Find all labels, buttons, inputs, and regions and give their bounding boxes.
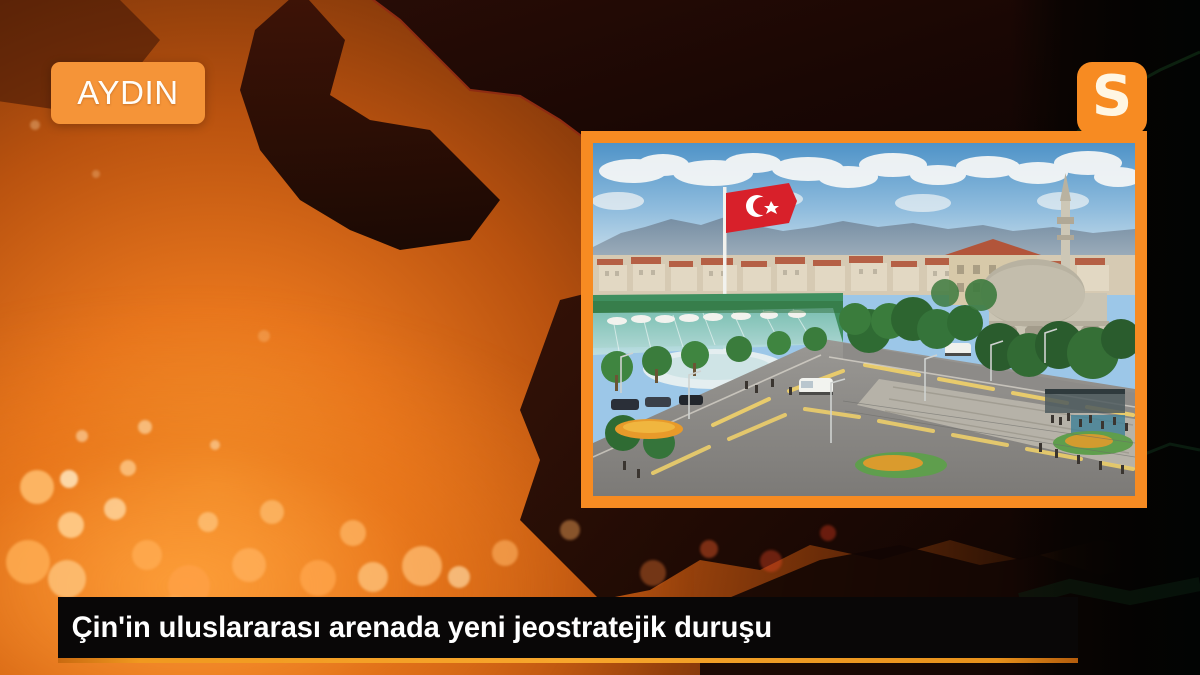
news-card: AYDIN S (0, 0, 1200, 675)
white-van (799, 378, 833, 395)
headline-bar: Çin'in uluslararası arenada yeni jeostra… (58, 597, 1078, 658)
photo-image (593, 143, 1135, 496)
headline-text: Çin'in uluslararası arenada yeni jeostra… (58, 611, 772, 645)
city-badge-label: AYDIN (77, 74, 178, 112)
city-badge[interactable]: AYDIN (51, 62, 205, 124)
photo-frame (581, 131, 1147, 508)
brand-logo[interactable]: S (1077, 62, 1147, 135)
headline-underline (58, 658, 1078, 663)
brand-logo-letter: S (1092, 69, 1132, 125)
